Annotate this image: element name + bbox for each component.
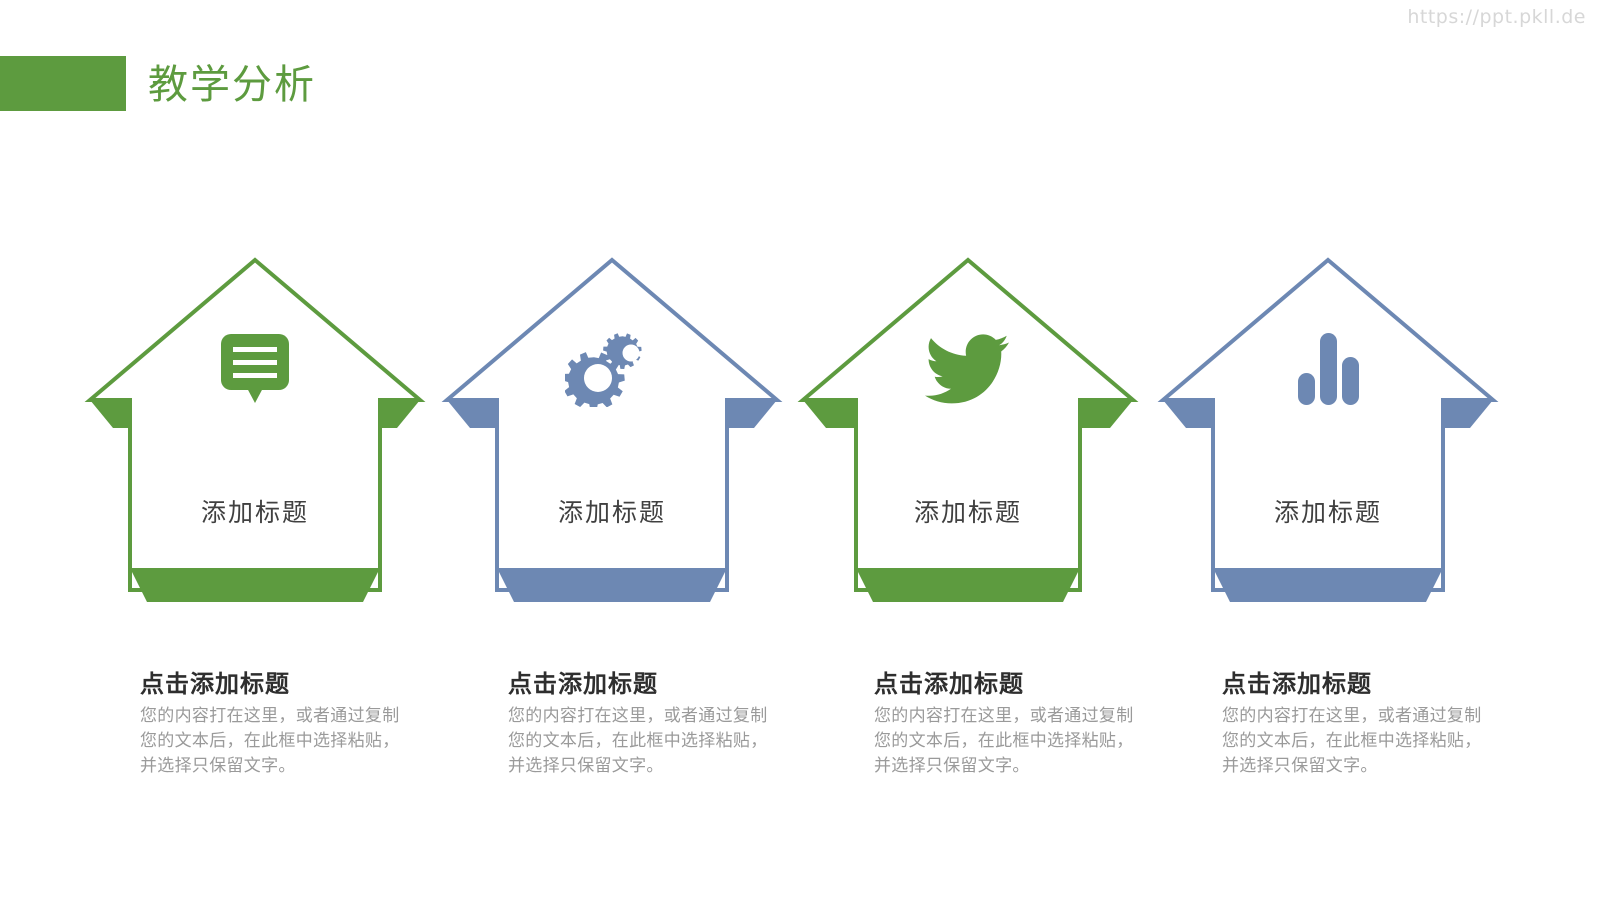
arrow-shape-4 [1148, 250, 1508, 610]
arrow-icon-3 [788, 328, 1148, 408]
arrow-label-4: 添加标题 [1148, 493, 1508, 529]
arrow-shape-1 [75, 250, 435, 610]
slide-canvas: https://ppt.pkll.de 教学分析 [0, 0, 1600, 900]
caption-title-3: 点击添加标题 [874, 668, 1174, 700]
bird-icon [925, 332, 1011, 404]
caption-block-4: 点击添加标题 您的内容打在这里，或者通过复制您的文本后，在此框中选择粘贴，并选择… [1222, 668, 1522, 779]
arrow-shape-2 [432, 250, 792, 610]
caption-body-1: 您的内容打在这里，或者通过复制您的文本后，在此框中选择粘贴，并选择只保留文字。 [140, 704, 412, 779]
caption-title-1: 点击添加标题 [140, 668, 440, 700]
caption-body-2: 您的内容打在这里，或者通过复制您的文本后，在此框中选择粘贴，并选择只保留文字。 [508, 704, 780, 779]
arrow-card-4[interactable]: 添加标题 [1148, 250, 1508, 610]
caption-block-1: 点击添加标题 您的内容打在这里，或者通过复制您的文本后，在此框中选择粘贴，并选择… [140, 668, 440, 779]
arrow-card-3[interactable]: 添加标题 [788, 250, 1148, 610]
arrow-card-2[interactable]: 添加标题 [432, 250, 792, 610]
arrow-label-2: 添加标题 [432, 493, 792, 529]
arrow-label-1: 添加标题 [75, 493, 435, 529]
arrow-icon-2 [432, 328, 792, 408]
caption-title-4: 点击添加标题 [1222, 668, 1522, 700]
arrow-shape-3 [788, 250, 1148, 610]
caption-title-2: 点击添加标题 [508, 668, 808, 700]
arrow-icon-4 [1148, 328, 1508, 408]
speech-bubble-lines-icon [217, 332, 293, 404]
bar-chart-icon [1294, 331, 1362, 405]
gears-icon [565, 329, 659, 407]
caption-block-3: 点击添加标题 您的内容打在这里，或者通过复制您的文本后，在此框中选择粘贴，并选择… [874, 668, 1174, 779]
caption-block-2: 点击添加标题 您的内容打在这里，或者通过复制您的文本后，在此框中选择粘贴，并选择… [508, 668, 808, 779]
caption-body-3: 您的内容打在这里，或者通过复制您的文本后，在此框中选择粘贴，并选择只保留文字。 [874, 704, 1146, 779]
arrow-label-3: 添加标题 [788, 493, 1148, 529]
arrow-icon-1 [75, 328, 435, 408]
caption-body-4: 您的内容打在这里，或者通过复制您的文本后，在此框中选择粘贴，并选择只保留文字。 [1222, 704, 1494, 779]
arrow-card-1[interactable]: 添加标题 [75, 250, 435, 610]
